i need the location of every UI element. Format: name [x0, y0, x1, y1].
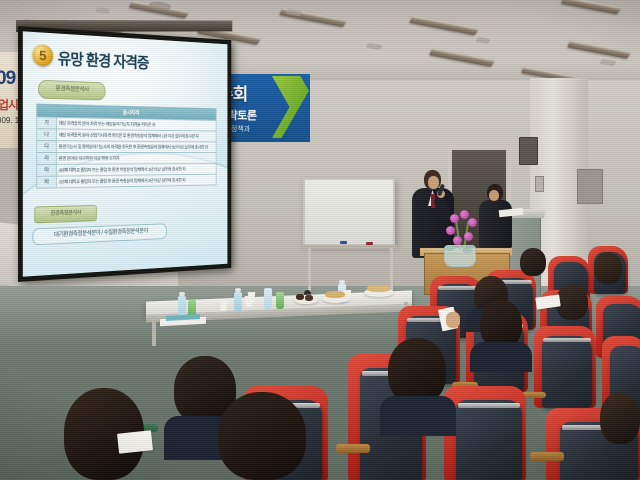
audience-shoulder-9	[380, 396, 456, 436]
water-bottle-2	[234, 292, 242, 312]
auditorium-photo: 수회 전략토론 환경정책과 09 업시 009. 11. 5 유망 환경 자격증…	[0, 0, 640, 480]
conference-table-leg-left	[152, 316, 156, 346]
orchid-flower-6	[453, 236, 462, 245]
slide-table-row-text: 환경 분야의 석사학위 이상 학위 소지자	[56, 153, 216, 165]
orchid-flower-3	[468, 218, 477, 227]
slide-title: 유망 환경 자격증	[58, 45, 149, 73]
banner-left-text: 업시	[0, 96, 18, 113]
whiteboard	[303, 178, 395, 246]
slide-table-row-key: 바	[37, 176, 57, 188]
snack-light-2	[367, 285, 390, 292]
whiteboard-leg-right	[390, 248, 393, 292]
snack-dark-1	[296, 294, 304, 300]
slide-table-row-key: 다	[37, 141, 57, 153]
green-bottle-2	[276, 292, 284, 309]
orchid-flower-5	[464, 232, 473, 241]
whiteboard-tray	[301, 245, 397, 249]
audience-head-10	[600, 392, 640, 444]
slide-table-row: 다환경기능사 및 화학분석기능사의 자격을 취득한 후 환경측정분석 업체에서 …	[37, 141, 217, 153]
banner-left-year: 09	[0, 68, 15, 90]
audience-head-8	[218, 392, 306, 480]
slide-number-badge: 5	[32, 44, 53, 67]
audience-held-paper-3	[117, 430, 153, 453]
slide-pill-label: 환경측정분석사	[38, 80, 106, 101]
orchid-flower-2	[460, 210, 469, 219]
seat-armrest-3	[336, 444, 370, 453]
water-bottle-3	[264, 288, 272, 309]
lectern-woman-body	[479, 200, 512, 248]
speaker-man-face	[428, 176, 439, 189]
bottle-cap-2	[235, 288, 241, 292]
lectern-woman-face	[489, 190, 499, 201]
snack-dark-2	[305, 295, 313, 301]
bottle-cap-1	[179, 292, 185, 296]
audience-hand-1	[446, 312, 460, 328]
audience-head-2	[480, 300, 522, 348]
slide-table-row-text: 환경기능사 및 화학분석기능사의 자격을 취득한 후 환경측정분석 업체에서 3…	[56, 141, 216, 153]
wall-vent-panel	[577, 169, 603, 204]
audience-head-5	[520, 248, 546, 276]
bottle-cap-4	[339, 280, 345, 284]
orchid-flower-4	[446, 226, 455, 235]
whiteboard-marker-1	[340, 241, 347, 244]
orchid-pot	[444, 245, 476, 267]
audience-head-3	[556, 284, 588, 320]
whiteboard-leg-left	[308, 248, 311, 292]
projection-screen: 5 유망 환경 자격증 환경측정분석사 응시자격 가해당 자격종목 분야 자격 …	[18, 26, 231, 282]
snack-light-1	[325, 291, 345, 298]
wall-speaker-icon	[519, 137, 538, 165]
slide-table: 응시자격 가해당 자격종목 분야 자격 또는 해당분석기능직 자격을 취득한 자…	[36, 103, 216, 188]
slide-table-row-text: 2년제 대학교 졸업자 또는 졸업 후 환경 측정분석 업체에서 3년 이상 실…	[56, 174, 216, 188]
slide-table-row-key: 가	[37, 117, 57, 129]
audience-head-4	[594, 252, 622, 284]
green-chevron-logo-icon	[272, 76, 310, 138]
slide-pill2-label: 환경측정분석사	[34, 205, 96, 224]
orchid-flower-1	[450, 214, 459, 223]
audience-shoulder-2	[470, 342, 532, 372]
wall-switch	[535, 176, 544, 192]
presentation-slide: 5 유망 환경 자격증 환경측정분석사 응시자격 가해당 자격종목 분야 자격 …	[23, 31, 228, 276]
seat-armrest-4	[530, 452, 564, 461]
slide-table-row-key: 라	[37, 153, 57, 165]
slide-table-row-key: 나	[37, 129, 57, 141]
slide-table-row-text: 해당 자격종목 분야 산업기사자격 취득한 후 환경측정분석 업체에서 1년 이…	[56, 129, 216, 142]
audience-head-9	[388, 338, 446, 404]
slide-table-row-key: 마	[37, 164, 57, 176]
